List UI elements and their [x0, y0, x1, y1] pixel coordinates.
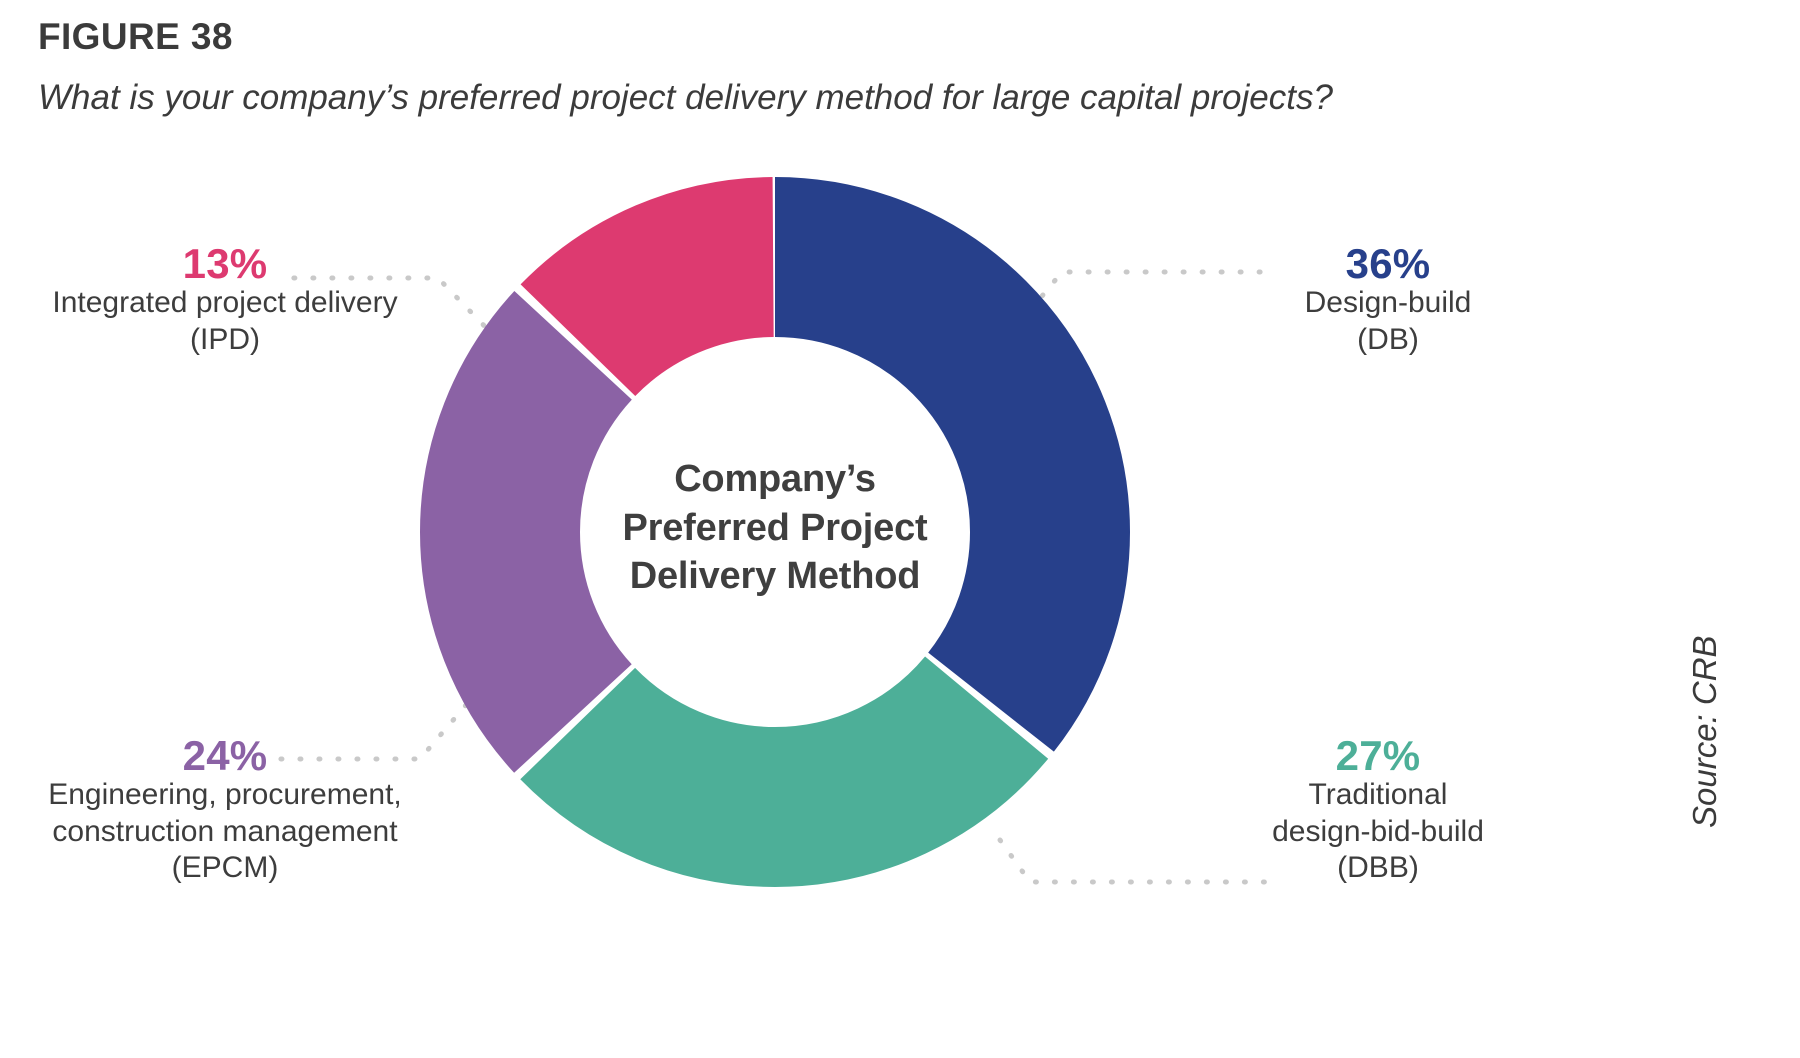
- donut-center-label: Company’s Preferred Project Delivery Met…: [560, 455, 990, 601]
- figure-question: What is your company’s preferred project…: [38, 78, 1333, 118]
- callout-db-percent: 36%: [1238, 243, 1538, 285]
- callout-ipd: 13% Integrated project delivery (IPD): [30, 243, 420, 358]
- callout-epcm-label: Engineering, procurement, construction m…: [30, 777, 420, 887]
- callout-db-label: Design-build (DB): [1238, 285, 1538, 358]
- callout-epcm-percent: 24%: [30, 735, 420, 777]
- callout-ipd-percent: 13%: [30, 243, 420, 285]
- callout-traditional-dbb: 27% Traditional design-bid-build (DBB): [1218, 735, 1538, 887]
- callout-design-build: 36% Design-build (DB): [1238, 243, 1538, 358]
- source-note: Source: CRB: [1686, 528, 1724, 828]
- callout-ipd-label: Integrated project delivery (IPD): [30, 285, 420, 358]
- callout-epcm: 24% Engineering, procurement, constructi…: [30, 735, 420, 887]
- callout-dbb-percent: 27%: [1218, 735, 1538, 777]
- page-title: FIGURE 38: [38, 16, 233, 58]
- callout-dbb-label: Traditional design-bid-build (DBB): [1218, 777, 1538, 887]
- figure-page: FIGURE 38 What is your company’s preferr…: [0, 0, 1800, 1058]
